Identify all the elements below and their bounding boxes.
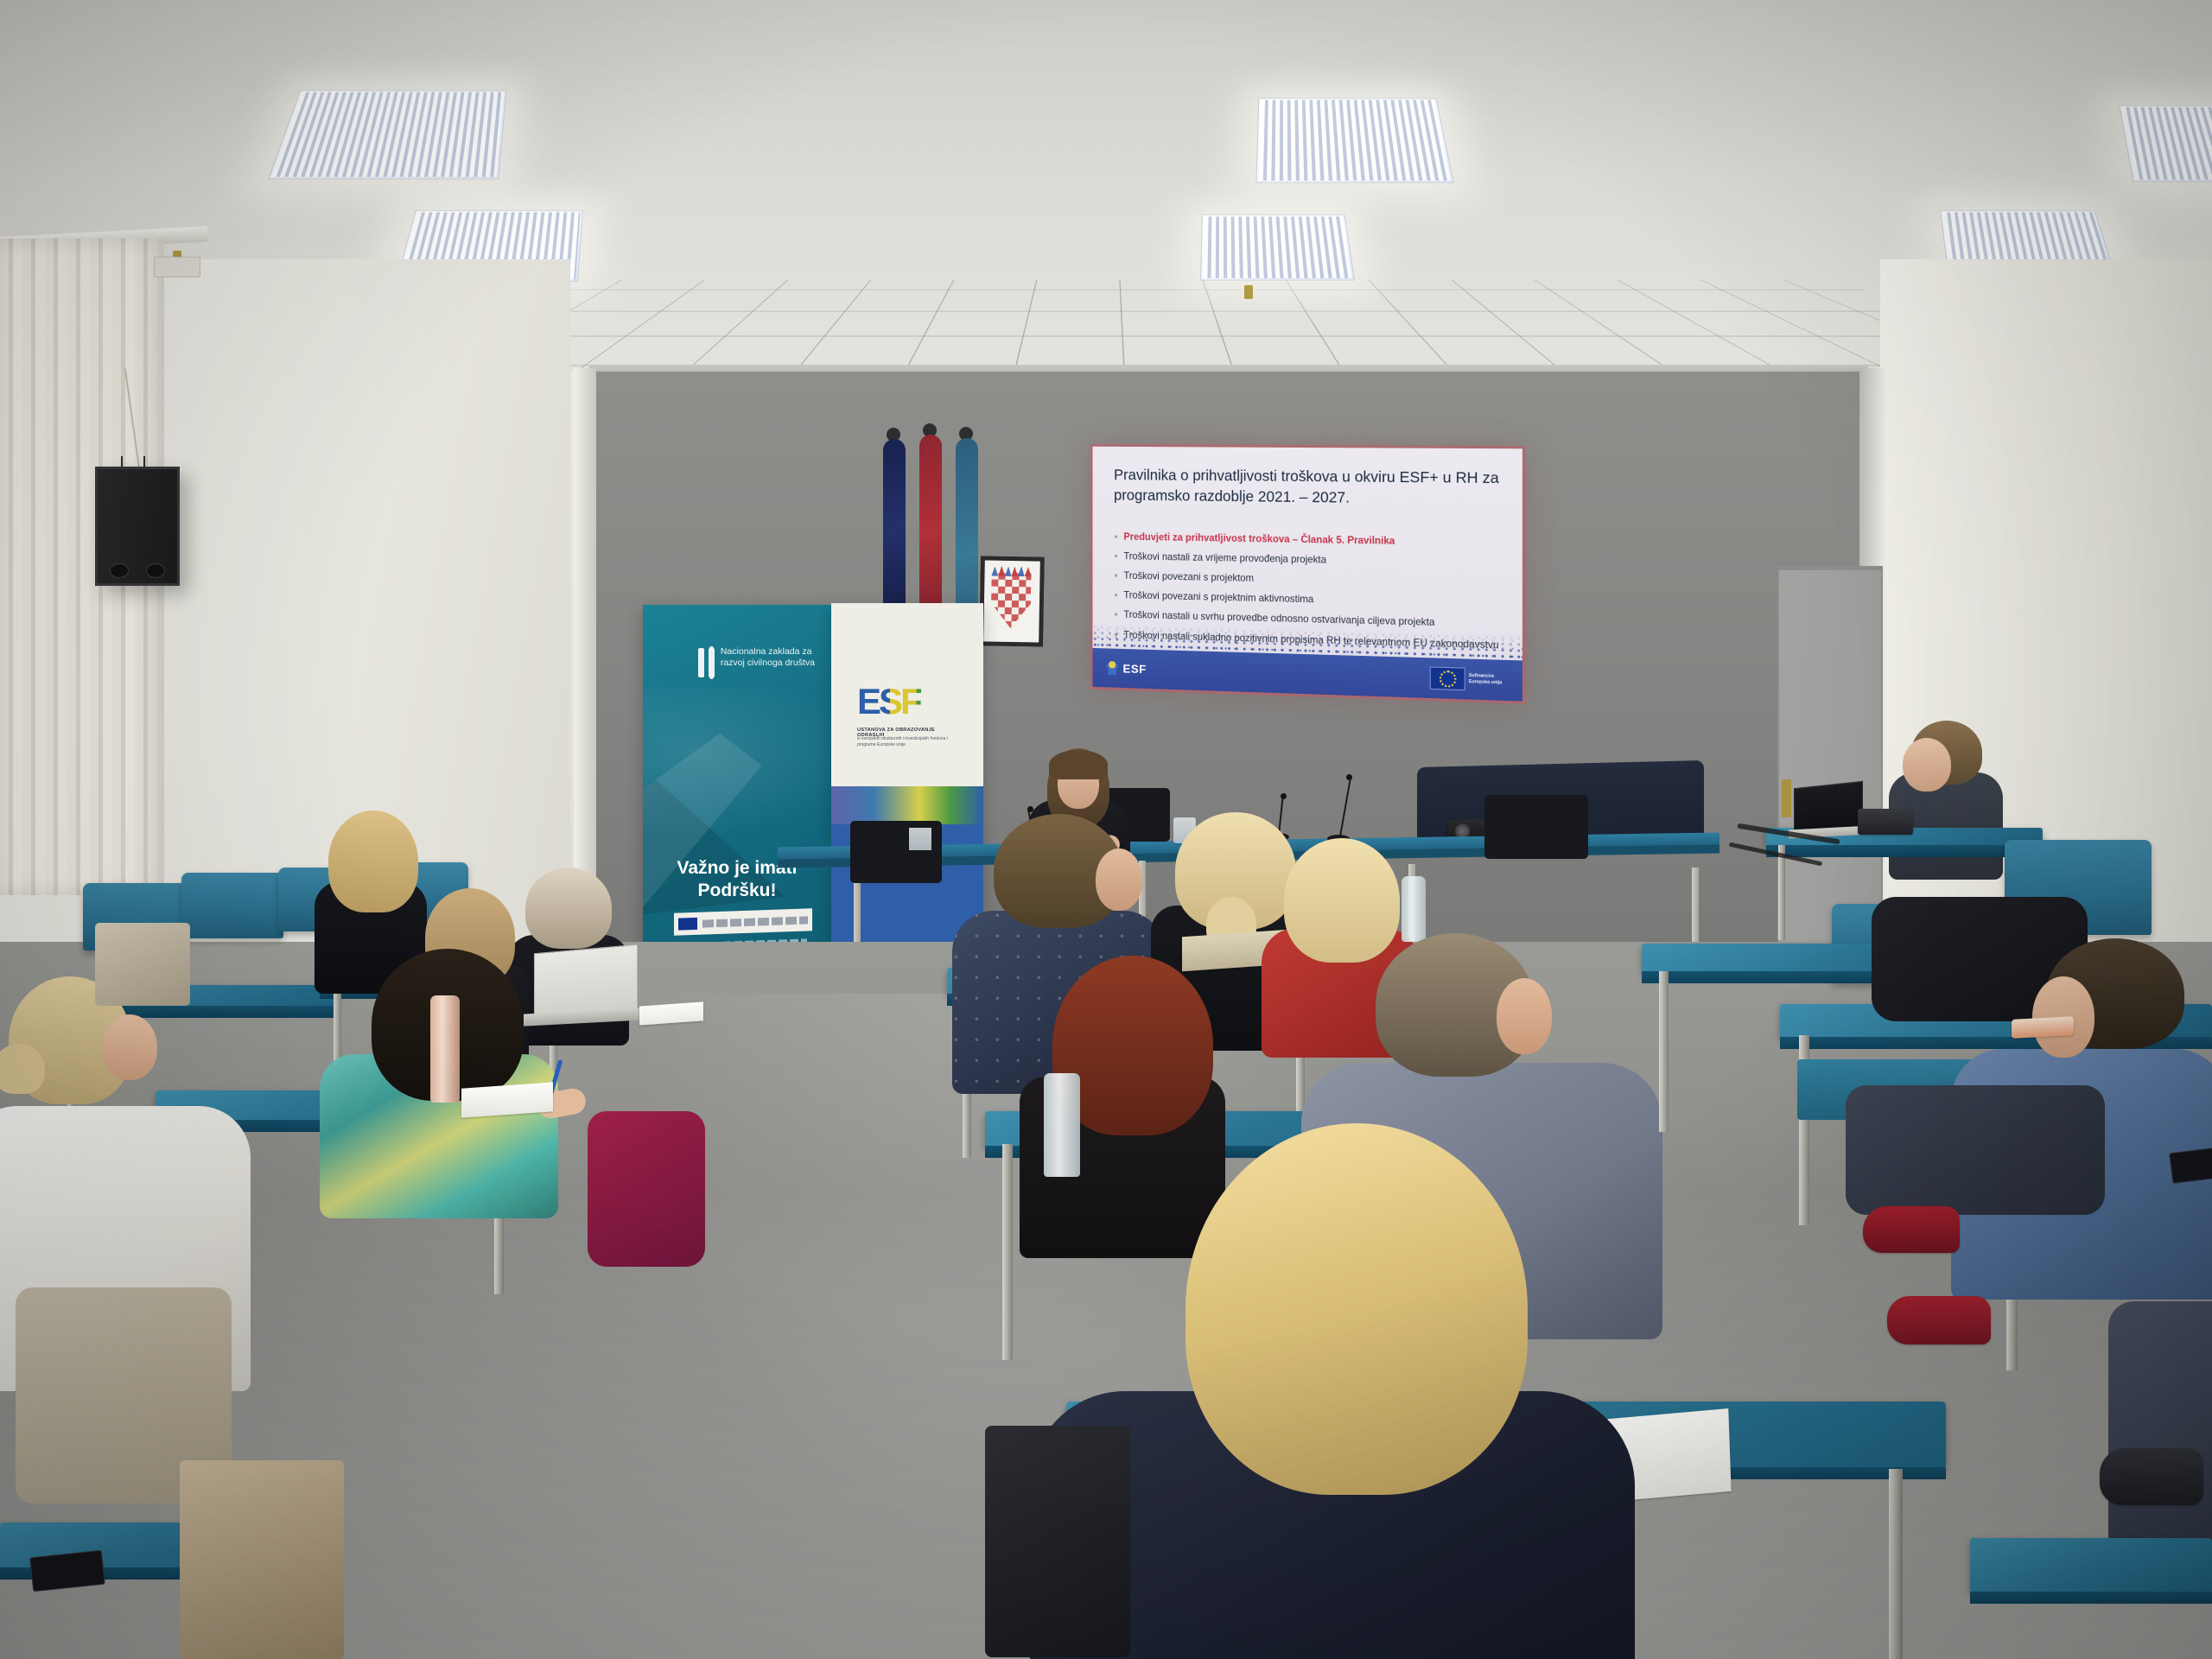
jeans-leg <box>1846 1085 2105 1215</box>
glass-on-table <box>909 828 931 850</box>
ceiling-light-3 <box>2119 105 2212 181</box>
desk-center-front-leg-2 <box>1889 1469 1903 1659</box>
eu-emblem-icon: Sufinancira Europska unija <box>1430 666 1510 691</box>
handbag-back-left <box>95 923 190 1006</box>
ceiling-light-5 <box>1200 214 1355 280</box>
door-handle[interactable] <box>1782 779 1791 817</box>
head-table-chair-2[interactable] <box>1484 795 1588 859</box>
slide-bullet-3: Troškovi povezani s projektom <box>1114 569 1510 592</box>
water-bottle-metal <box>430 995 460 1103</box>
esf-banner-caption-2: iz europskih strukturnih i investicijski… <box>857 736 964 749</box>
eu-caption: Sufinancira Europska unija <box>1469 673 1510 687</box>
projected-slide: Pravilnika o prihvatljivosti troškova u … <box>1092 447 1522 702</box>
handbag-left <box>180 1460 344 1659</box>
brackets-icon <box>698 646 715 679</box>
esf-logo-label: ESF <box>1122 662 1146 677</box>
shoe-black <box>2100 1448 2203 1505</box>
banner-claim-line2: Podršku! <box>643 880 831 902</box>
backpack-magenta <box>588 1111 705 1267</box>
tech-device-box <box>1858 809 1913 835</box>
red-sneaker-2 <box>1887 1296 1991 1344</box>
wall-vent <box>154 257 200 277</box>
red-sneaker-1 <box>1863 1206 1960 1253</box>
slide-title: Pravilnika o prihvatljivosti troškova u … <box>1114 465 1501 510</box>
slide-bullet-2: Troškovi nastali za vrijeme provođenja p… <box>1114 549 1510 571</box>
water-bottle-clear-1 <box>1402 876 1426 942</box>
esf-logo-icon: ESF <box>1106 661 1147 676</box>
tech-desk-leg-1 <box>1778 845 1785 940</box>
phone-right-desk[interactable] <box>2169 1146 2212 1184</box>
esf-banner-logo: ESF <box>857 683 959 721</box>
eu-flag-icon <box>678 918 697 931</box>
framed-coat-of-arms <box>979 556 1045 646</box>
ceiling-light-2 <box>1255 99 1454 183</box>
hair-bun <box>0 1044 45 1094</box>
snack-on-desk <box>2012 1016 2074 1039</box>
long-blonde-hair <box>1185 1123 1528 1495</box>
technician-head <box>1903 738 1951 791</box>
foundation-name: Nacionalna zaklada za razvoj civilnoga d… <box>721 646 831 669</box>
seminar-room-photo: Pravilnika o prihvatljivosti troškova u … <box>0 0 2212 1659</box>
attendee-hair <box>328 810 418 912</box>
desk-center-mid-leg-1 <box>1002 1144 1013 1360</box>
ceiling-light-1 <box>268 91 506 180</box>
rollup-banner-foundation: Nacionalna zaklada za razvoj civilnoga d… <box>643 605 831 952</box>
empty-chair-l2[interactable] <box>181 873 283 938</box>
slide-bullet-1: Preduvjeti za prihvatljivost troškova – … <box>1114 530 1510 551</box>
presenter-hair-front <box>1049 750 1108 779</box>
desk-bottom-right <box>1970 1538 2212 1593</box>
wall-speaker-icon <box>95 467 180 586</box>
water-bottle-clear-2 <box>1044 1073 1080 1177</box>
foundation-logo: Nacionalna zaklada za razvoj civilnoga d… <box>698 646 831 679</box>
black-handbag-center <box>985 1426 1130 1657</box>
ceiling-hook-3 <box>1244 285 1253 299</box>
banner-eu-footer <box>674 908 812 936</box>
banner-footer-text <box>702 916 808 927</box>
coat-of-arms-shield <box>990 573 1031 629</box>
desk-right-back-leg-1 <box>1659 971 1669 1132</box>
